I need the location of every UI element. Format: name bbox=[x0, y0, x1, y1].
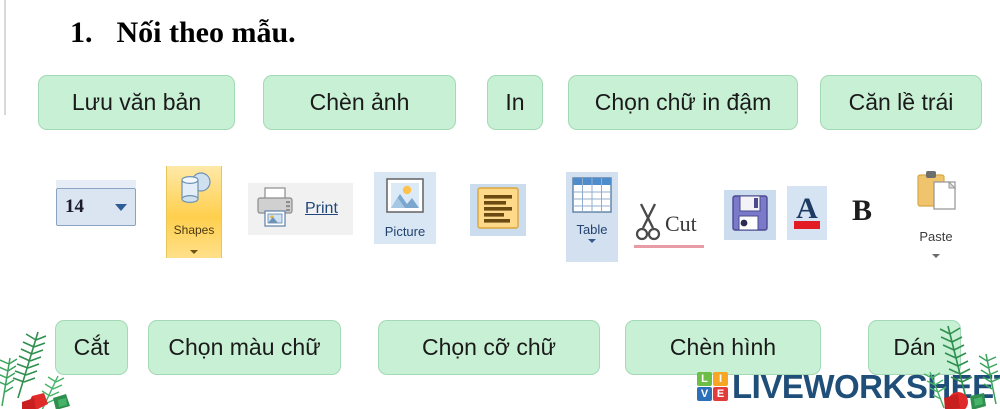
cut-label: Cut bbox=[665, 211, 697, 237]
paste-button[interactable]: Paste bbox=[905, 166, 967, 262]
answer-cat[interactable]: Cắt bbox=[55, 320, 128, 375]
paste-caret-icon bbox=[932, 254, 940, 258]
paste-clipboard-icon bbox=[913, 168, 959, 219]
logo-tile-e: E bbox=[713, 387, 728, 401]
shapes-button[interactable]: Shapes bbox=[166, 166, 222, 258]
answer-label: Cắt bbox=[74, 334, 110, 361]
page-title: 1. Nối theo mẫu. bbox=[70, 16, 296, 50]
answer-luu-van-ban[interactable]: Lưu văn bản bbox=[38, 75, 235, 130]
worksheet-page: 1. Nối theo mẫu. Lưu văn bản Chèn ảnh In… bbox=[0, 0, 1000, 409]
page-left-rule bbox=[4, 0, 6, 115]
font-size-dropdown-shade bbox=[56, 180, 136, 188]
font-size-dropdown[interactable]: 14 bbox=[56, 188, 136, 226]
table-icon bbox=[570, 176, 614, 221]
answer-can-le-trai[interactable]: Căn lề trái bbox=[820, 75, 982, 130]
shapes-caret-icon bbox=[190, 250, 198, 254]
cut-underline bbox=[634, 245, 704, 248]
answer-label: Chèn ảnh bbox=[310, 89, 410, 116]
answer-in[interactable]: In bbox=[487, 75, 543, 130]
answer-label: Chọn cỡ chữ bbox=[422, 334, 556, 361]
answer-chon-chu-in-dam[interactable]: Chọn chữ in đậm bbox=[568, 75, 798, 130]
print-button[interactable]: Print bbox=[248, 183, 353, 235]
exercise-number: 1. bbox=[70, 16, 93, 50]
save-button[interactable] bbox=[724, 190, 776, 240]
cut-scissors-icon bbox=[633, 200, 663, 249]
logo-tile-l: L bbox=[697, 372, 712, 386]
answer-label: Dán bbox=[893, 334, 935, 361]
cut-button[interactable]: Cut bbox=[633, 198, 711, 250]
answer-chon-co-chu[interactable]: Chọn cỡ chữ bbox=[378, 320, 600, 375]
table-caret-icon bbox=[588, 239, 596, 243]
answer-dan[interactable]: Dán bbox=[868, 320, 961, 375]
answer-label: Chọn màu chữ bbox=[168, 334, 320, 361]
font-size-value: 14 bbox=[65, 196, 84, 218]
shapes-label: Shapes bbox=[174, 224, 215, 237]
shapes-icon bbox=[174, 171, 214, 212]
answer-label: Chọn chữ in đậm bbox=[595, 89, 772, 116]
font-color-icon: A bbox=[790, 189, 824, 238]
table-label: Table bbox=[576, 223, 607, 236]
align-left-icon bbox=[475, 186, 521, 235]
logo-wordmark: LIVEWORKSHEETS bbox=[732, 370, 1000, 403]
answer-chon-mau-chu[interactable]: Chọn màu chữ bbox=[148, 320, 341, 375]
picture-button[interactable]: Picture bbox=[374, 172, 436, 244]
bold-icon: B bbox=[852, 194, 872, 228]
print-icon bbox=[252, 185, 298, 234]
table-button[interactable]: Table bbox=[566, 172, 618, 262]
liveworksheets-logo: L I V E LIVEWORKSHEETS bbox=[697, 370, 1000, 403]
picture-label: Picture bbox=[385, 225, 425, 238]
chevron-down-icon bbox=[115, 204, 127, 211]
print-label: Print bbox=[305, 200, 338, 218]
answer-label: In bbox=[505, 89, 524, 116]
logo-tile-v: V bbox=[697, 387, 712, 401]
svg-text:A: A bbox=[796, 192, 818, 225]
answer-label: Lưu văn bản bbox=[72, 89, 201, 116]
answer-chen-hinh[interactable]: Chèn hình bbox=[625, 320, 821, 375]
answer-label: Chèn hình bbox=[670, 334, 776, 361]
align-left-button[interactable] bbox=[470, 184, 526, 236]
answer-chen-anh[interactable]: Chèn ảnh bbox=[263, 75, 456, 130]
logo-tile-i: I bbox=[713, 372, 728, 386]
save-floppy-icon bbox=[730, 193, 770, 238]
bold-button[interactable]: B bbox=[845, 190, 879, 232]
paste-label: Paste bbox=[919, 230, 952, 243]
font-color-button[interactable]: A bbox=[787, 186, 827, 240]
answer-label: Căn lề trái bbox=[849, 89, 954, 116]
logo-tiles: L I V E bbox=[697, 372, 728, 401]
picture-icon bbox=[383, 176, 427, 223]
exercise-instruction: Nối theo mẫu. bbox=[117, 16, 296, 50]
